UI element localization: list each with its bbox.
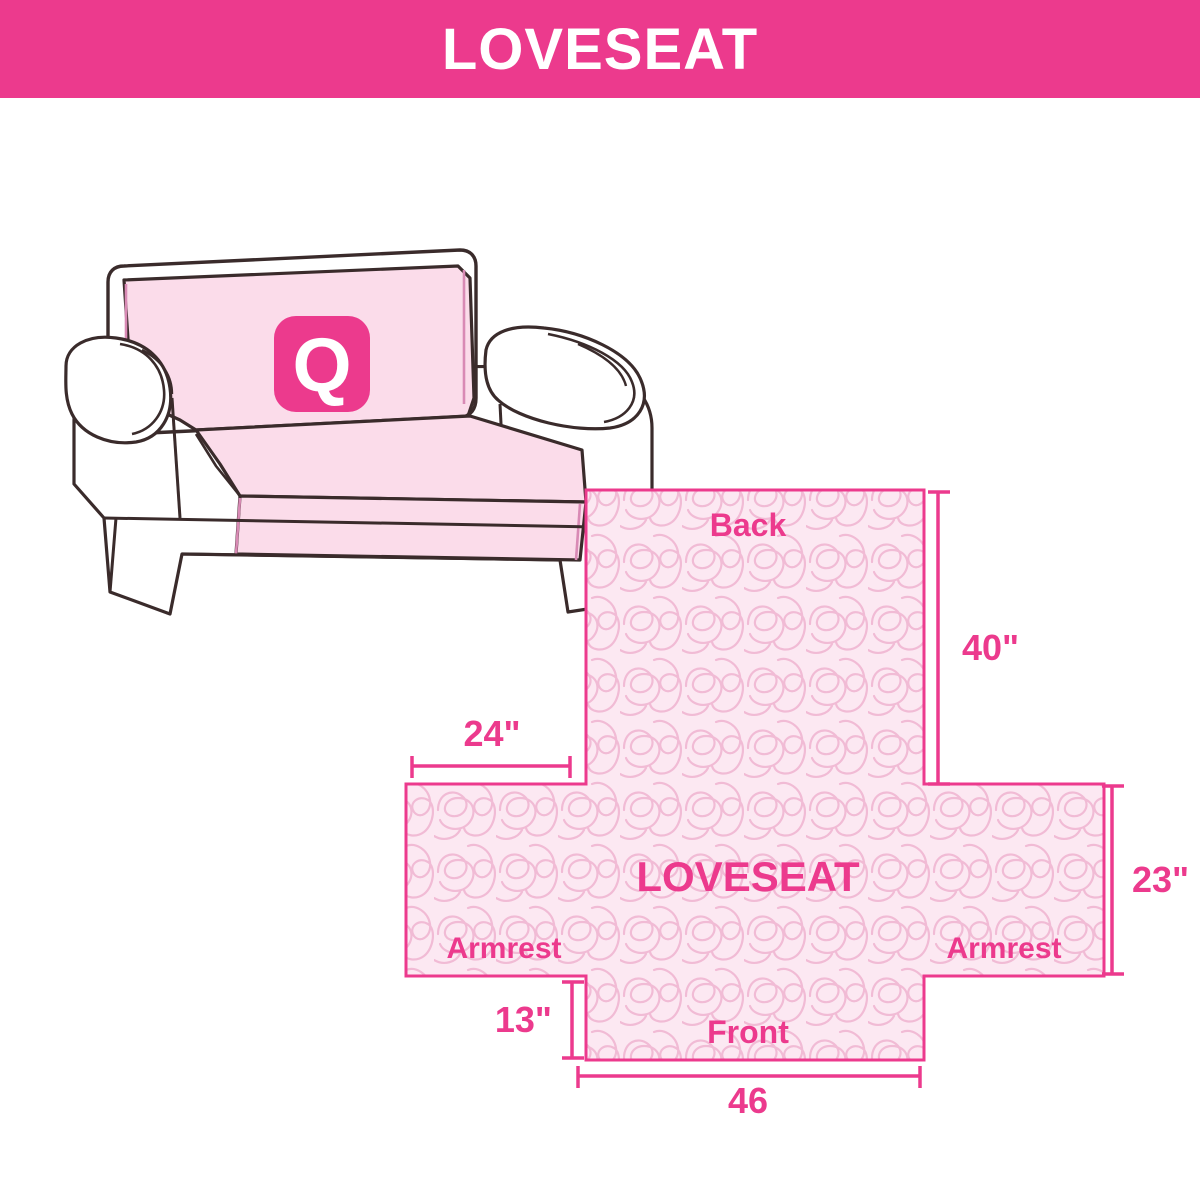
svg-text:Q: Q (292, 323, 351, 408)
label-armrest-left: Armrest (446, 932, 561, 965)
header-banner: LOVESEAT (0, 0, 1200, 98)
brand-logo-q: Q (274, 316, 370, 412)
page-title: LOVESEAT (442, 16, 758, 83)
dimension-back-width: 24" (463, 713, 520, 754)
label-armrest-right: Armrest (946, 932, 1061, 965)
dimension-front-flap-height: 13" (495, 999, 552, 1040)
loveseat-sofa-illustration: Q (66, 250, 652, 614)
label-center-loveseat: LOVESEAT (636, 853, 860, 900)
dimension-total-width: 46 (728, 1080, 768, 1121)
dimension-back-height: 40" (962, 627, 1019, 668)
label-back: Back (710, 507, 787, 543)
loveseat-cover-pattern (400, 486, 1112, 1066)
diagram-canvas: Q Back LOVESEAT Armrest Armres (0, 98, 1200, 1200)
label-front: Front (707, 1014, 789, 1050)
quilt-texture (400, 486, 1112, 1066)
dimension-armrest-height: 23" (1132, 859, 1189, 900)
